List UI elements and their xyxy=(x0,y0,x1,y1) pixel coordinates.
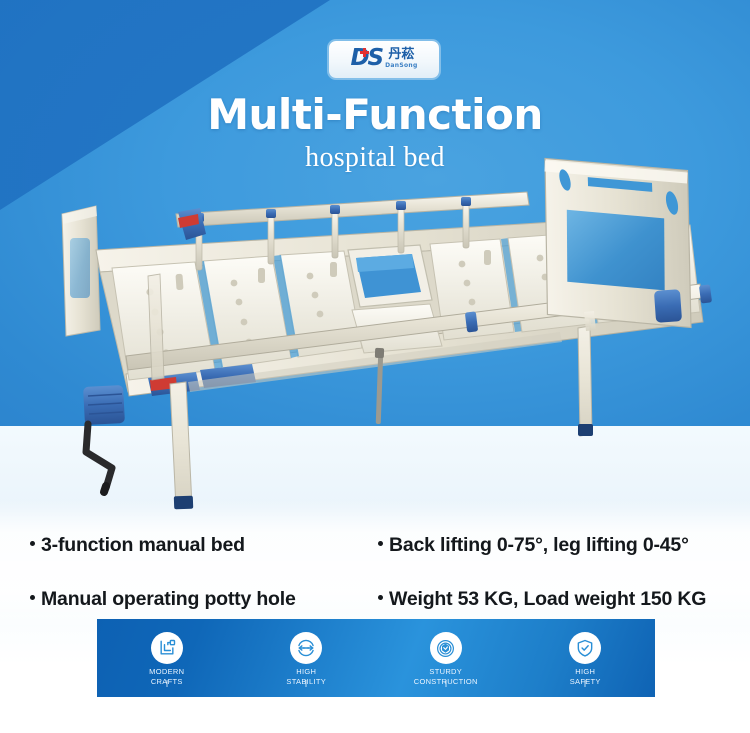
bed-crank-handle[interactable] xyxy=(83,385,125,492)
feature-bullet-1: 3-function manual bed xyxy=(30,534,245,557)
bullet-dot-icon xyxy=(378,595,383,600)
bullet-dot-icon xyxy=(30,595,35,600)
potty-hole xyxy=(348,245,432,307)
badge-tick xyxy=(585,680,586,687)
badge-high-safety: HIGHSAFETY xyxy=(516,630,656,686)
badge-modern-crafts: MODERNCRAFTS xyxy=(97,630,237,686)
feature-bullet-list: 3-function manual bed Manual operating p… xyxy=(0,520,750,615)
high-stability-icon xyxy=(290,632,322,664)
high-safety-icon xyxy=(569,632,601,664)
bullet-dot-icon xyxy=(30,541,35,546)
badge-tick xyxy=(445,680,446,687)
product-image-hospital-bed xyxy=(0,0,750,520)
badge-sturdy-construction: STURDYCONSTRUCTION xyxy=(376,630,516,686)
sturdy-construction-icon xyxy=(430,632,462,664)
advertisement-banner: DS 丹菘 DanSong Multi-Function hospital be… xyxy=(0,0,750,733)
modern-crafts-icon xyxy=(151,632,183,664)
badge-tick xyxy=(306,680,307,687)
feature-bullet-2: Manual operating potty hole xyxy=(30,588,296,611)
feature-bullet-3: Back lifting 0-75°, leg lifting 0-45° xyxy=(378,534,689,557)
badge-tick xyxy=(166,680,167,687)
badge-high-stability: HIGHSTABILITY xyxy=(237,630,377,686)
feature-badge-bar: MODERNCRAFTS HIGHSTABILITY xyxy=(97,619,655,697)
bullet-dot-icon xyxy=(378,541,383,546)
feature-bullet-4: Weight 53 KG, Load weight 150 KG xyxy=(378,588,706,611)
bed-footboard xyxy=(62,206,100,336)
bed-headboard xyxy=(542,154,693,333)
